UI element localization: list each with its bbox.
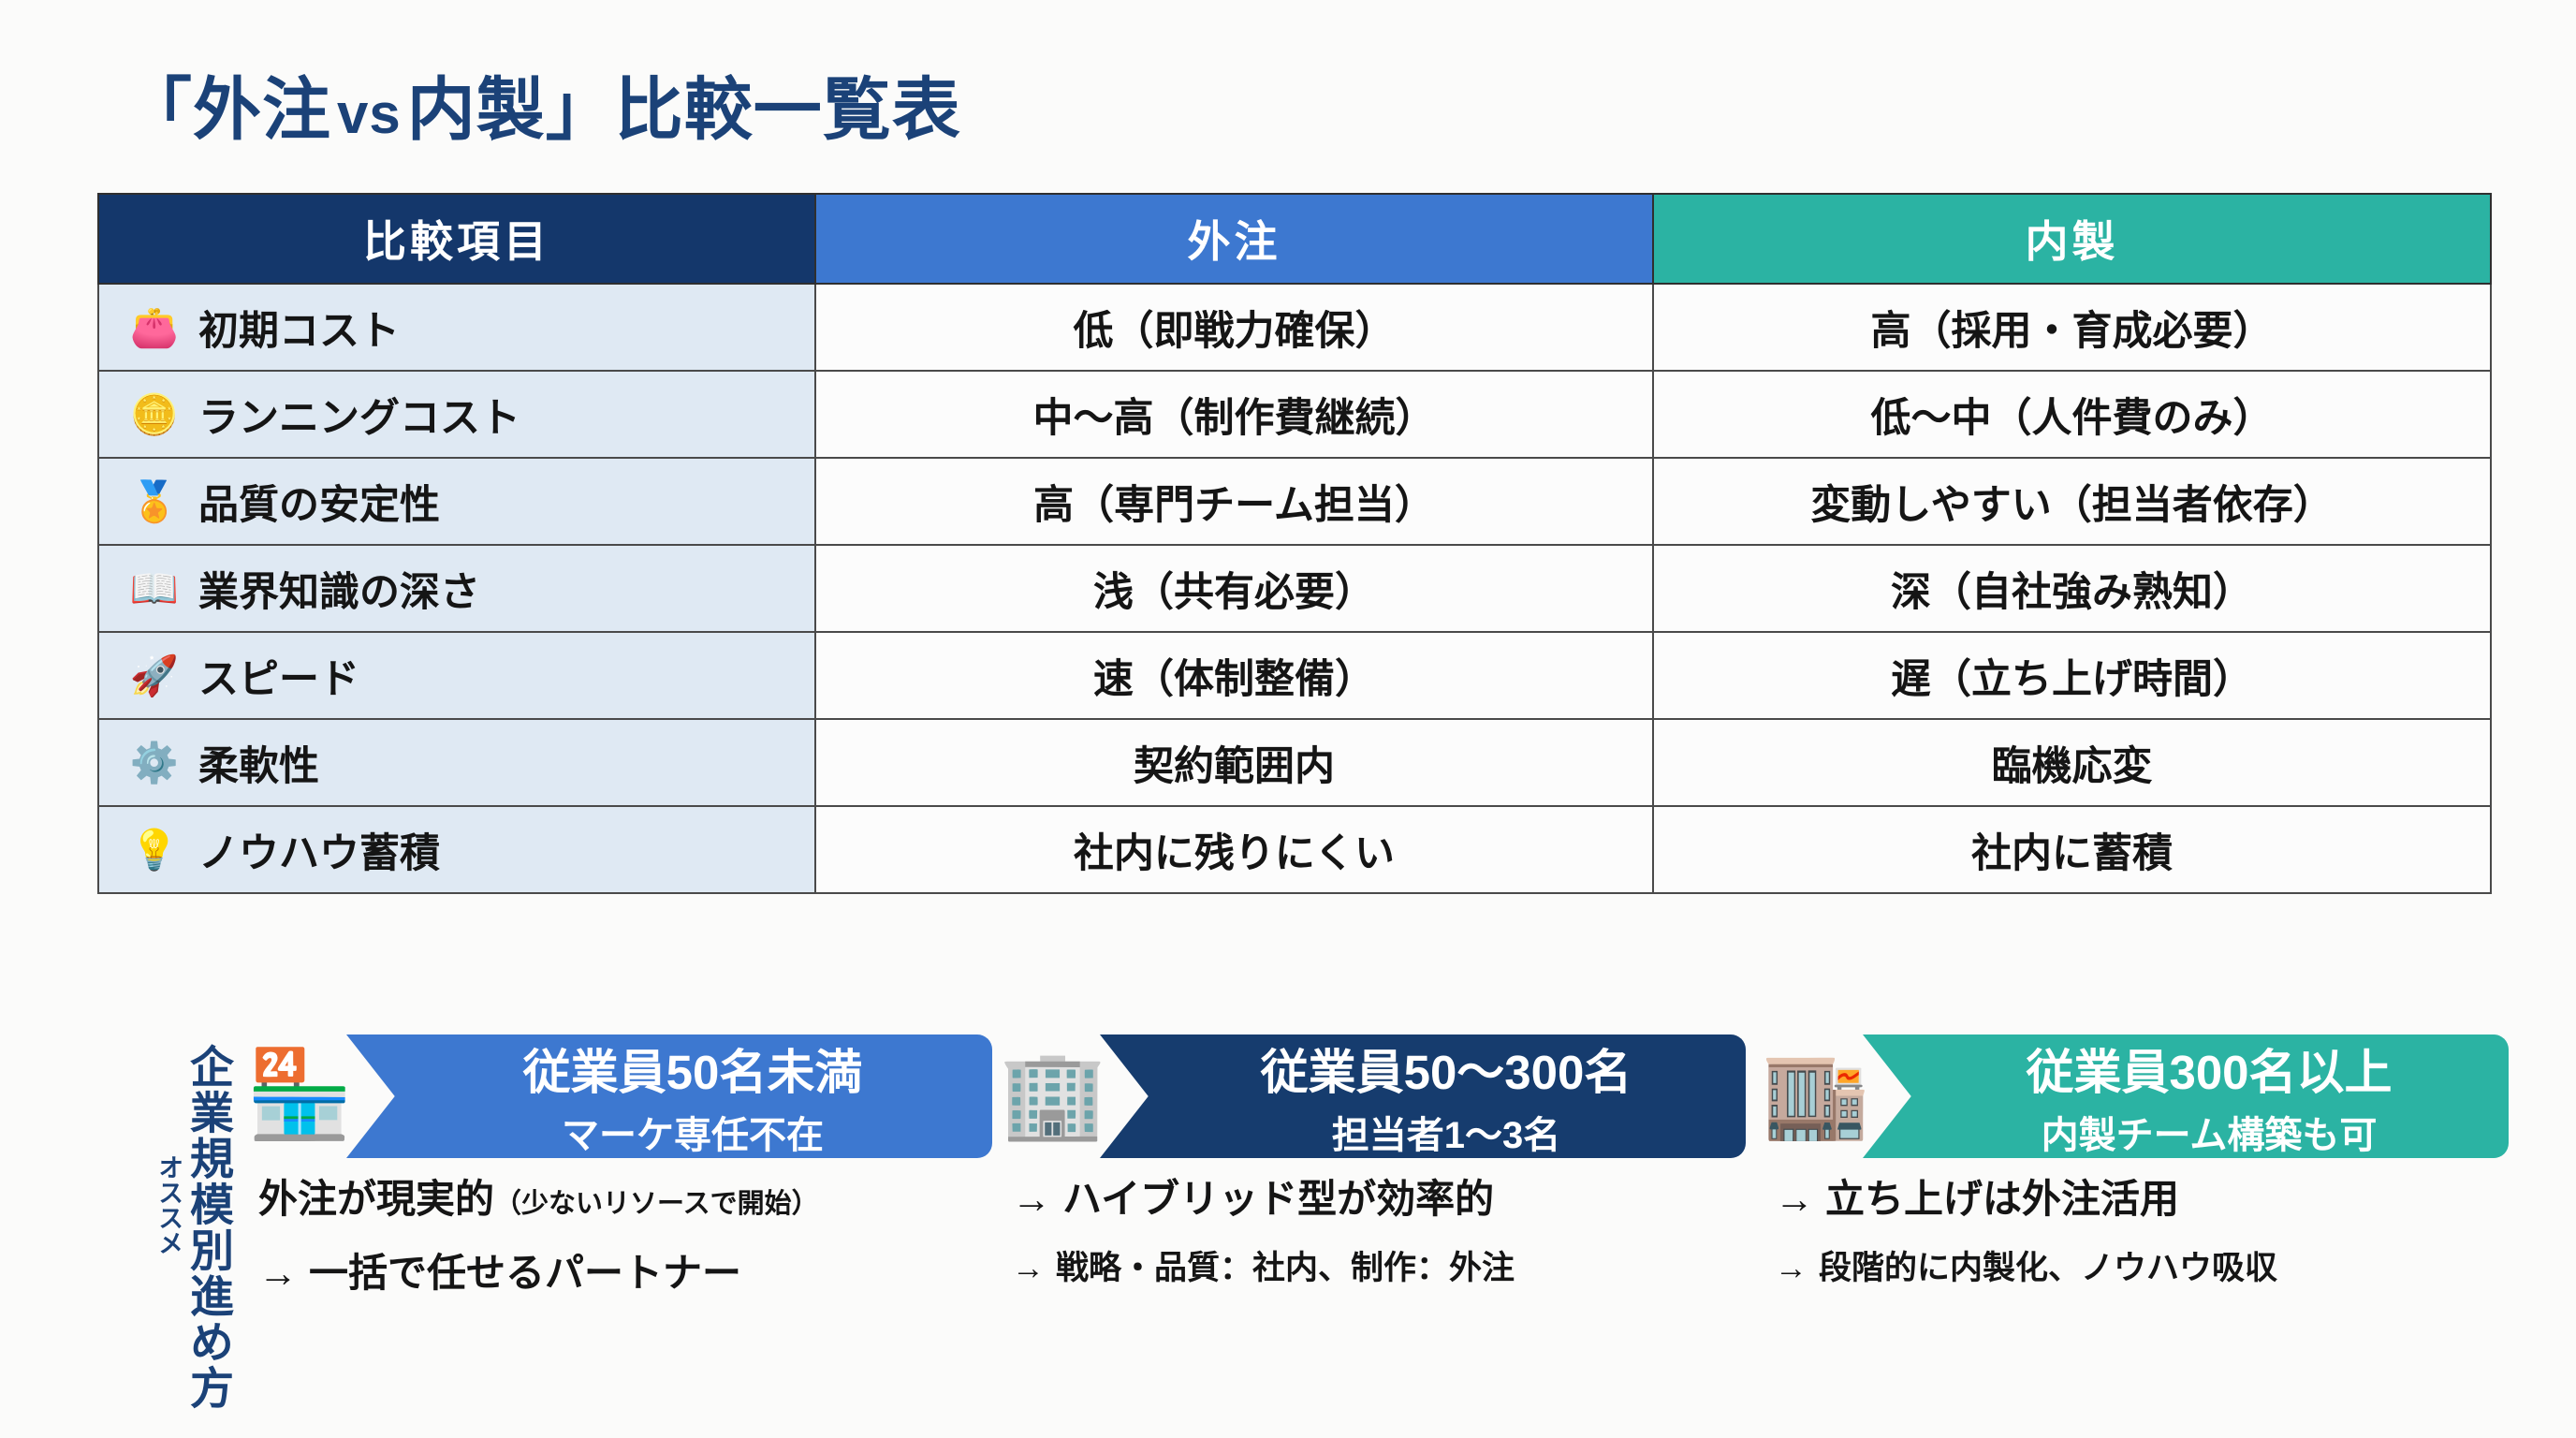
card-body-text: 段階的に内製化、ノウハウ吸収: [1819, 1250, 2277, 1286]
medal-icon: 🏅: [125, 482, 183, 521]
banner-line-1: 従業員300名以上: [2026, 1034, 2392, 1103]
card-banner: 従業員50名未満 マーケ専任不在: [346, 1034, 992, 1158]
arrow-icon: →: [258, 1251, 298, 1295]
column-header-inhouse: 内製: [1653, 194, 2491, 284]
arrow-icon: →: [1775, 1250, 1808, 1286]
row-item-label: ランニングコスト: [198, 396, 520, 441]
table-row: 🏅品質の安定性 高（専門チーム担当） 変動しやすい（担当者依存）: [98, 458, 2491, 545]
coins-icon: 🪙: [125, 395, 183, 434]
table-row: ⚙️柔軟性 契約範囲内 臨機応変: [98, 719, 2491, 806]
row-outsource-cell: 高（専門チーム担当）: [815, 458, 1653, 545]
table-row: 🚀スピード 速（体制整備） 遅（立ち上げ時間）: [98, 632, 2491, 719]
table-row: 📖業界知識の深さ 浅（共有必要） 深（自社強み熟知）: [98, 545, 2491, 632]
card-medium-company: 🏢 従業員50〜300名 担当者1〜3名 →ハイブリッド型が効率的 →戦略・品質…: [997, 1025, 1746, 1166]
row-outsource-cell: 浅（共有必要）: [815, 545, 1653, 632]
page-title: 「外注vs内製」比較一覧表: [124, 54, 961, 154]
storefront-icon: 🏪: [243, 1038, 356, 1151]
banner-line-1: 従業員50名未満: [523, 1034, 863, 1103]
page-title-part1: 「外注: [124, 72, 331, 148]
row-inhouse-cell: 変動しやすい（担当者依存）: [1653, 458, 2491, 545]
card-body: →ハイブリッド型が効率的 →戦略・品質：社内、制作：外注: [1012, 1167, 1761, 1306]
arrow-icon: →: [1012, 1250, 1045, 1286]
column-header-item: 比較項目: [98, 194, 815, 284]
banner-line-2: 担当者1〜3名: [1332, 1105, 1561, 1159]
card-body: →立ち上げは外注活用 →段階的に内製化、ノウハウ吸収: [1775, 1167, 2524, 1306]
card-body-text: 一括で任せるパートナー: [309, 1251, 741, 1295]
vertical-section-label: 企業規模別進め方 オススメ: [90, 1044, 230, 1418]
card-body-line-2: →一括で任せるパートナー: [258, 1241, 1007, 1299]
banner-line-2: マーケ専任不在: [562, 1105, 824, 1159]
row-item-cell: 🪙ランニングコスト: [98, 371, 815, 458]
page-title-part2: 内製」比較一覧表: [407, 72, 961, 148]
card-banner: 従業員300名以上 内製チーム構築も可: [1863, 1034, 2509, 1158]
row-item-label: 初期コスト: [198, 309, 400, 354]
row-inhouse-cell: 遅（立ち上げ時間）: [1653, 632, 2491, 719]
infographic-page: 「外注vs内製」比較一覧表 比較項目 外注 内製 👛初期コスト 低（即戦力確保）…: [0, 0, 2576, 1438]
row-inhouse-cell: 社内に蓄積: [1653, 806, 2491, 893]
arrow-icon: →: [1012, 1177, 1051, 1221]
row-item-cell: 🚀スピード: [98, 632, 815, 719]
arrow-icon: →: [1775, 1177, 1814, 1221]
wallet-icon: 👛: [125, 308, 183, 347]
department-store-icon: 🏬: [1760, 1038, 1872, 1151]
rocket-icon: 🚀: [125, 656, 183, 696]
row-item-cell: ⚙️柔軟性: [98, 719, 815, 806]
card-body: 外注が現実的（少ないリソースで開始） →一括で任せるパートナー: [258, 1167, 1007, 1315]
card-banner: 従業員50〜300名 担当者1〜3名: [1100, 1034, 1746, 1158]
office-building-icon: 🏢: [997, 1038, 1109, 1151]
card-body-line-1: →立ち上げは外注活用: [1775, 1167, 2524, 1225]
row-outsource-cell: 低（即戦力確保）: [815, 284, 1653, 371]
table-row: 👛初期コスト 低（即戦力確保） 高（採用・育成必要）: [98, 284, 2491, 371]
row-item-label: スピード: [198, 657, 359, 702]
row-item-label: 業界知識の深さ: [198, 570, 480, 615]
row-item-cell: 💡ノウハウ蓄積: [98, 806, 815, 893]
recommendation-cards: 🏪 従業員50名未満 マーケ専任不在 外注が現実的（少ないリソースで開始） →一…: [234, 1025, 2555, 1428]
row-item-label: 柔軟性: [198, 744, 319, 789]
card-body-text: 立ち上げは外注活用: [1825, 1177, 2179, 1221]
card-small-company: 🏪 従業員50名未満 マーケ専任不在 外注が現実的（少ないリソースで開始） →一…: [243, 1025, 992, 1166]
card-body-line-2: →段階的に内製化、ノウハウ吸収: [1775, 1241, 2524, 1289]
card-body-strong: 外注が現実的: [258, 1177, 494, 1221]
card-body-line-1: 外注が現実的（少ないリソースで開始）: [258, 1167, 1007, 1225]
row-item-label: 品質の安定性: [198, 483, 440, 528]
row-outsource-cell: 速（体制整備）: [815, 632, 1653, 719]
page-title-vs: vs: [331, 82, 407, 145]
card-header: 🏪 従業員50名未満 マーケ専任不在: [243, 1025, 992, 1166]
banner-line-1: 従業員50〜300名: [1261, 1034, 1632, 1103]
table-header-row: 比較項目 外注 内製: [98, 194, 2491, 284]
card-body-note: （少ないリソースで開始）: [494, 1189, 819, 1219]
gears-icon: ⚙️: [125, 743, 183, 783]
comparison-table-container: 比較項目 外注 内製 👛初期コスト 低（即戦力確保） 高（採用・育成必要） 🪙ラ…: [97, 193, 2490, 894]
row-inhouse-cell: 高（採用・育成必要）: [1653, 284, 2491, 371]
row-inhouse-cell: 深（自社強み熟知）: [1653, 545, 2491, 632]
lightbulb-icon: 💡: [125, 830, 183, 870]
comparison-table: 比較項目 外注 内製 👛初期コスト 低（即戦力確保） 高（採用・育成必要） 🪙ラ…: [97, 193, 2492, 894]
card-body-text: ハイブリッド型が効率的: [1062, 1177, 1494, 1221]
card-body-line-1: →ハイブリッド型が効率的: [1012, 1167, 1761, 1225]
vertical-label-sub: オススメ: [155, 1154, 182, 1255]
row-item-cell: 🏅品質の安定性: [98, 458, 815, 545]
row-inhouse-cell: 臨機応変: [1653, 719, 2491, 806]
row-outsource-cell: 中〜高（制作費継続）: [815, 371, 1653, 458]
table-row: 🪙ランニングコスト 中〜高（制作費継続） 低〜中（人件費のみ）: [98, 371, 2491, 458]
card-header: 🏢 従業員50〜300名 担当者1〜3名: [997, 1025, 1746, 1166]
row-outsource-cell: 契約範囲内: [815, 719, 1653, 806]
card-body-line-2: →戦略・品質：社内、制作：外注: [1012, 1241, 1761, 1289]
company-size-section: 企業規模別進め方 オススメ 🏪 従業員50名未満 マーケ専任不在 外注が現実的（…: [0, 1025, 2576, 1428]
column-header-outsource: 外注: [815, 194, 1653, 284]
card-large-company: 🏬 従業員300名以上 内製チーム構築も可 →立ち上げは外注活用 →段階的に内製…: [1760, 1025, 2509, 1166]
row-outsource-cell: 社内に残りにくい: [815, 806, 1653, 893]
table-row: 💡ノウハウ蓄積 社内に残りにくい 社内に蓄積: [98, 806, 2491, 893]
row-item-cell: 📖業界知識の深さ: [98, 545, 815, 632]
row-inhouse-cell: 低〜中（人件費のみ）: [1653, 371, 2491, 458]
open-book-icon: 📖: [125, 569, 183, 609]
row-item-cell: 👛初期コスト: [98, 284, 815, 371]
row-item-label: ノウハウ蓄積: [198, 831, 440, 876]
card-header: 🏬 従業員300名以上 内製チーム構築も可: [1760, 1025, 2509, 1166]
card-body-text: 戦略・品質：社内、制作：外注: [1056, 1250, 1515, 1286]
banner-line-2: 内製チーム構築も可: [2042, 1105, 2378, 1159]
vertical-label-main: 企業規模別進め方: [185, 1044, 230, 1411]
